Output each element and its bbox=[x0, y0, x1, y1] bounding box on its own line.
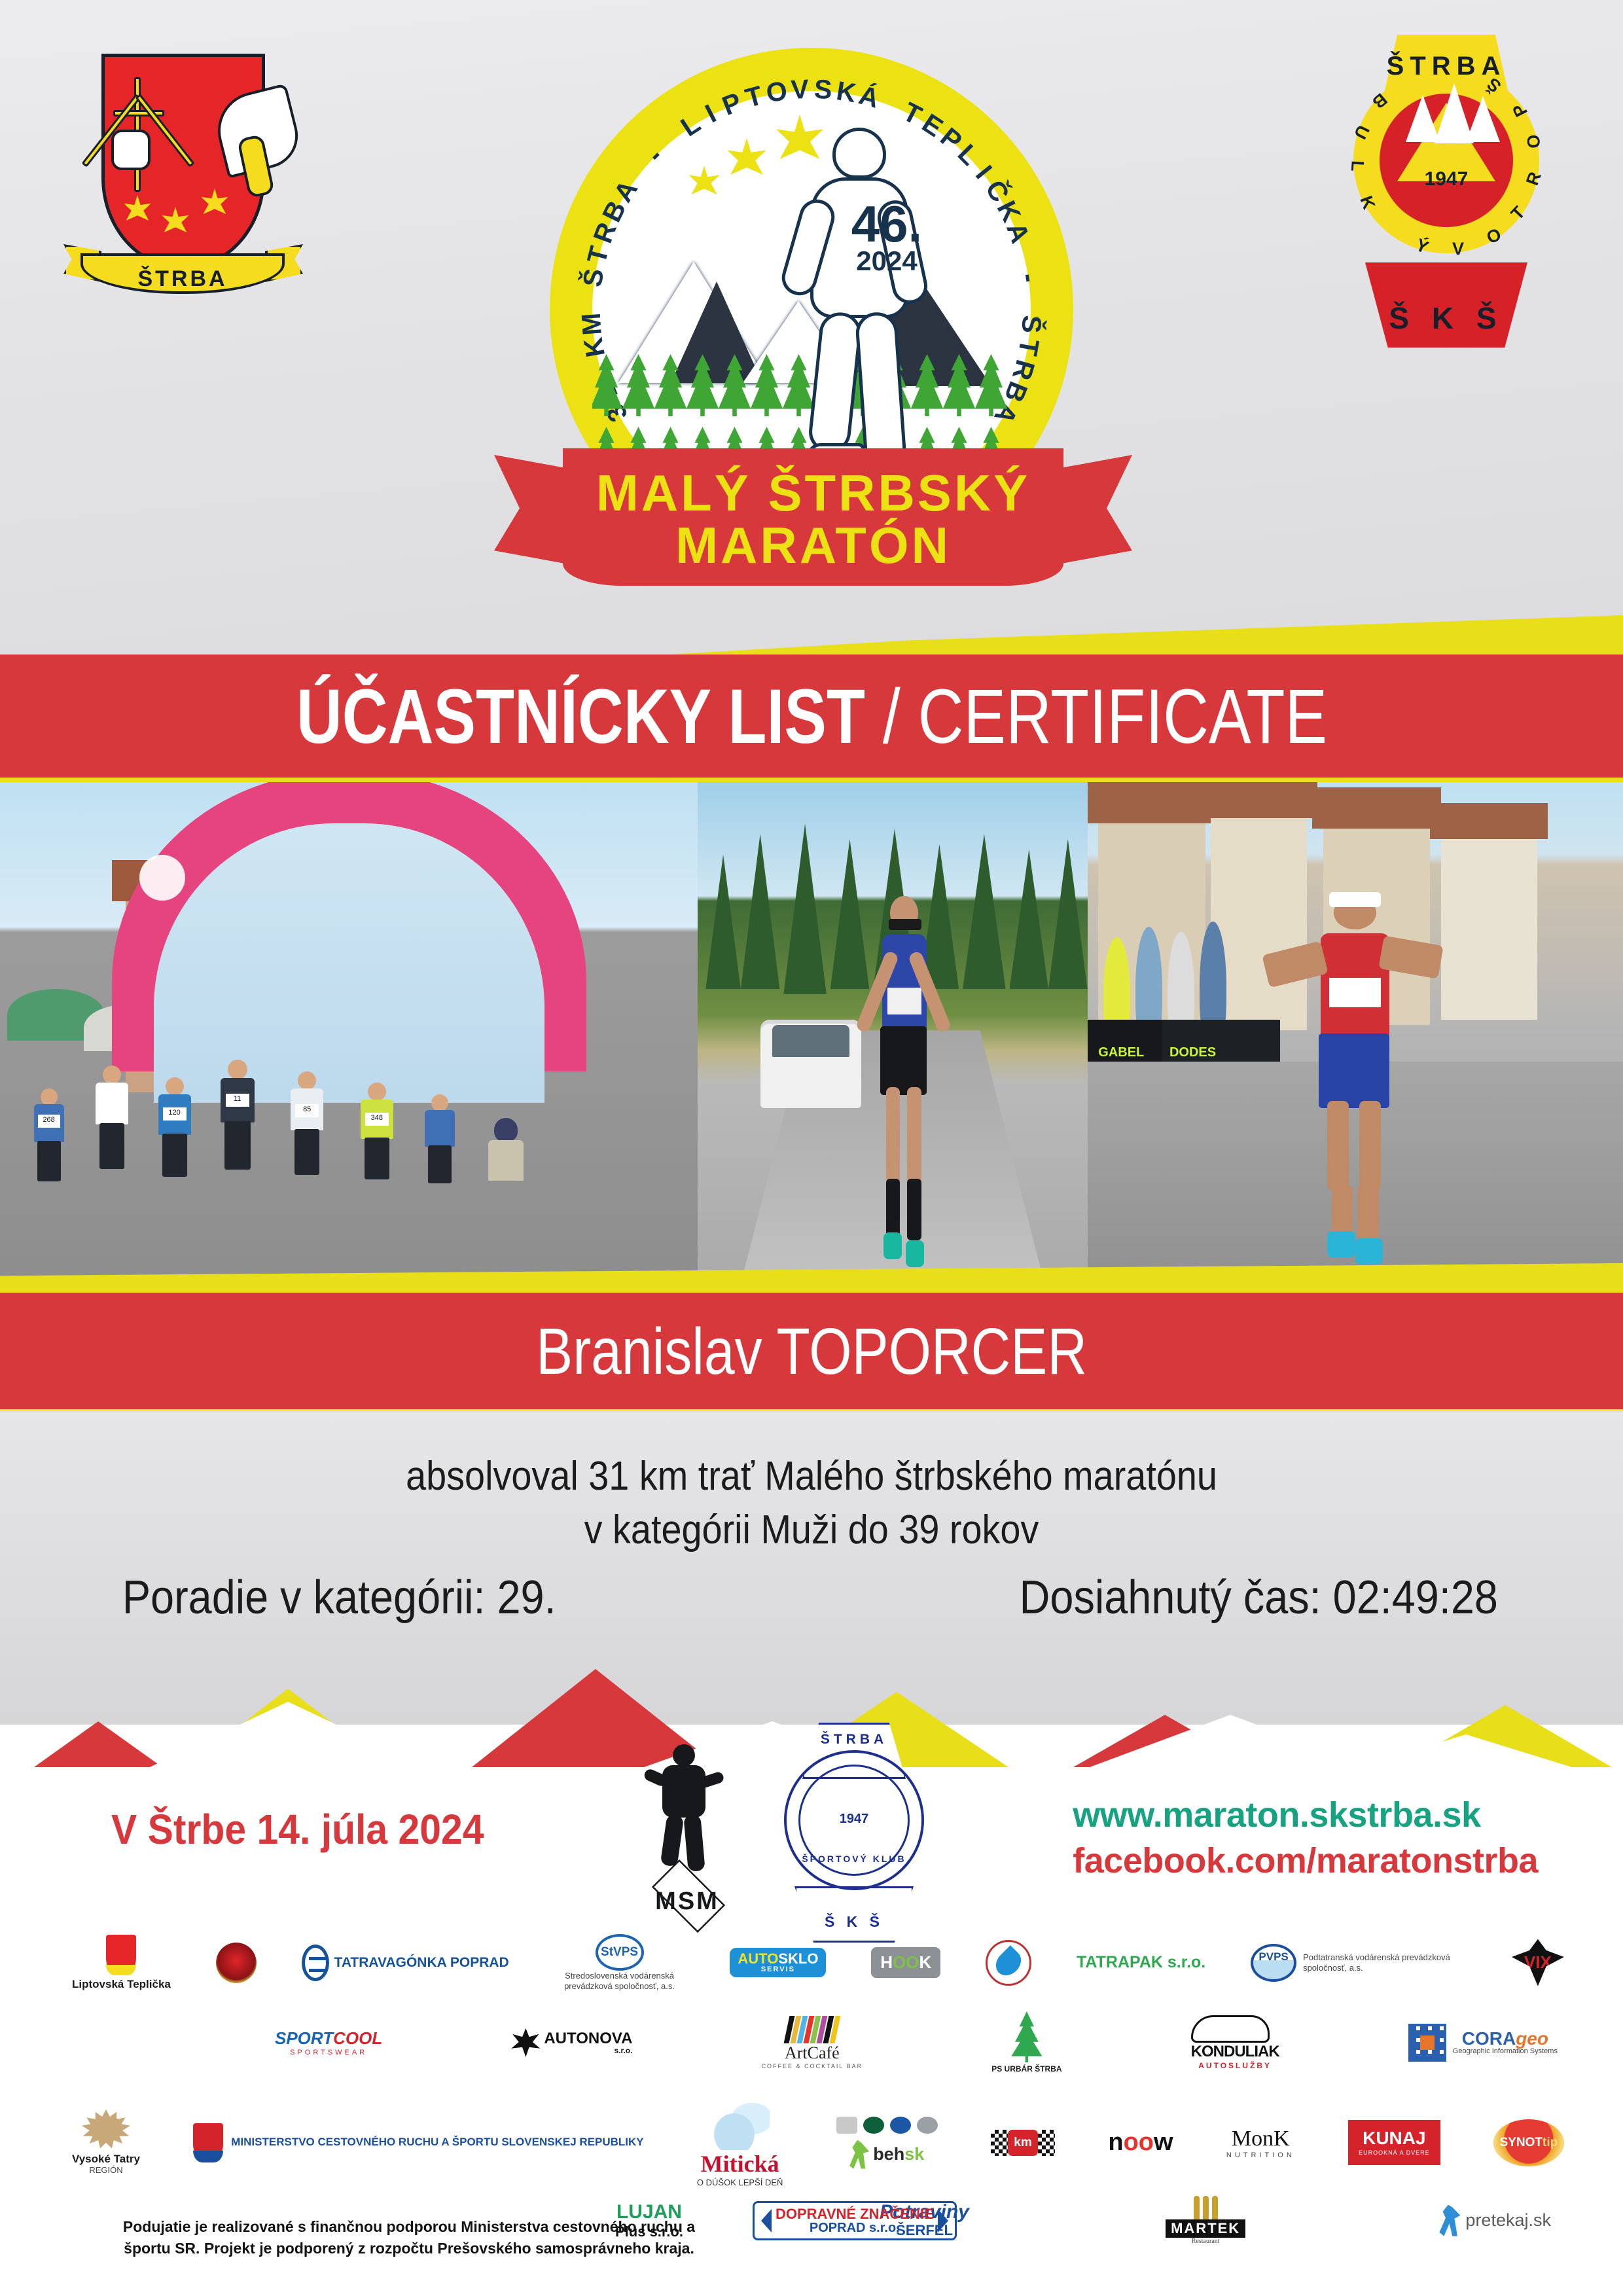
race-logo-bib: 46. 2024 bbox=[834, 200, 939, 274]
pine-tree-icon bbox=[749, 354, 785, 416]
sks-arc-letter: T bbox=[1507, 202, 1529, 224]
ps-urbar-tree-icon bbox=[1008, 2011, 1045, 2062]
stamp-arc-text: ŠPORTOVÝ KLUB bbox=[772, 1854, 936, 1864]
coa-ribbon: ŠTRBA bbox=[62, 239, 304, 310]
sponsor-grid: Liptovská Teplička TATRAVAGÓNKA POPRAD S… bbox=[0, 1934, 1623, 2209]
sks-arc-letter: P bbox=[1508, 100, 1532, 120]
sponsor-caption: Liptovská Teplička bbox=[72, 1978, 171, 1991]
miticka-name: Mitická bbox=[697, 2150, 783, 2178]
pine-tree-icon bbox=[973, 354, 1009, 416]
sportcool-wordmark: SPORTCOOL SPORTSWEAR bbox=[275, 2028, 382, 2056]
pretekaj-wordmark: pretekaj.sk bbox=[1465, 2210, 1551, 2231]
sponsor-miticka: Mitická O DÚŠOK LEPŠÍ DEŇ bbox=[697, 2098, 783, 2187]
stvps-oval-icon: StVPS bbox=[596, 1934, 644, 1971]
pine-tree-icon bbox=[620, 354, 656, 416]
event-date: V Štrbe 14. júla 2024 bbox=[111, 1805, 484, 1854]
stamp-bottom-text: Š K Š bbox=[772, 1913, 936, 1931]
race-edition-year: 2024 bbox=[834, 248, 939, 274]
title-bold: ÚČASTNÍCKY LIST bbox=[296, 673, 865, 760]
coat-of-arms-strba-icon: ŠTRBA bbox=[62, 39, 304, 353]
noow-wordmark: noow bbox=[1108, 2128, 1173, 2157]
sponsor-behsk: behsk bbox=[849, 2140, 924, 2169]
tatravagonka-mark-icon bbox=[302, 1945, 329, 1981]
support-note: Podujatie je realizované s finančnou pod… bbox=[98, 2216, 720, 2260]
km-flag-right-icon bbox=[1038, 2130, 1055, 2156]
dopravne-wordmark: DOPRAVNÉ ZNAČENIEPOPRAD s.r.o. bbox=[776, 2207, 934, 2234]
sks-bottom-text: Š K Š bbox=[1322, 300, 1571, 336]
monk-sub: NUTRITION bbox=[1226, 2151, 1295, 2159]
autonova-star-icon bbox=[511, 2028, 540, 2057]
sportcool-sub: SPORTSWEAR bbox=[275, 2049, 382, 2056]
sponsor-pd-strba bbox=[986, 1940, 1031, 1986]
star-medium bbox=[725, 138, 768, 181]
sks-arc-text: ŠPORTOVÝ KLUB bbox=[1353, 67, 1539, 253]
sponsor-ministerstvo: MINISTERSTVO CESTOVNÉHO RUCHU A ŠPORTU S… bbox=[193, 2123, 643, 2162]
autosklo-badge-icon: AUTOSKLO SERVIS bbox=[730, 1948, 826, 1977]
contact-links: www.maraton.skstrba.sk facebook.com/mara… bbox=[1073, 1795, 1538, 1881]
barrier-brand-gabel: GABEL bbox=[1098, 1045, 1144, 1060]
pd-strba-icon bbox=[986, 1940, 1031, 1986]
sponsor-hook: HOOK bbox=[871, 1947, 940, 1978]
arch-logo bbox=[139, 855, 185, 901]
stamp-year: 1947 bbox=[772, 1812, 936, 1827]
club-stamp-icon: ŠTRBA 1947 Š K Š ŠPORTOVÝ KLUB bbox=[772, 1728, 936, 1937]
finish-time: Dosiahnutý čas: 02:49:28 bbox=[1020, 1571, 1498, 1624]
participant-name: Branislav TOPORCER bbox=[536, 1314, 1087, 1390]
sponsor-kunaj: KUNAJ EUROOKNÁ A DVERE bbox=[1348, 2120, 1440, 2165]
sponsor-monk: MonK NUTRITION bbox=[1226, 2126, 1295, 2159]
sponsor-martek: MARTEK Restaurant bbox=[1166, 2196, 1245, 2245]
page-title: ÚČASTNÍCKY LIST / CERTIFICATE bbox=[296, 678, 1327, 755]
sponsor-dopravne-znacenie: DOPRAVNÉ ZNAČENIEPOPRAD s.r.o. bbox=[753, 2201, 957, 2240]
lead-female-runner bbox=[869, 896, 939, 1279]
category-rank: Poradie v kategórii: 29. bbox=[122, 1571, 556, 1624]
konduliak-sub: AUTOSLUŽBY bbox=[1191, 2061, 1279, 2070]
msm-word: MSM bbox=[622, 1888, 753, 1916]
footer: V Štrbe 14. júla 2024 MSM ŠTRBA 1947 Š K… bbox=[0, 1767, 1623, 2296]
sponsor-synottip: SYNOTtip bbox=[1493, 2119, 1564, 2166]
race-logo-banner: MALÝ ŠTRBSKÝ MARATÓN bbox=[494, 429, 1132, 619]
winning-runner bbox=[1302, 896, 1409, 1268]
konduliak-name: KONDULIAK bbox=[1191, 2043, 1279, 2061]
miticka-sub: O DÚŠOK LEPŠÍ DEŇ bbox=[697, 2178, 783, 2187]
km-wordmark: km bbox=[1008, 2130, 1038, 2156]
header-band: ŠTRBA 31 KM ŠTRBA - LIPTOVSKÁ TEPLIČKA -… bbox=[0, 0, 1623, 655]
sks-arc-letter: O bbox=[1524, 134, 1544, 149]
pvps-oval-icon: PVPS bbox=[1251, 1944, 1296, 1982]
arc-letter: T bbox=[742, 80, 766, 114]
sponsor-artcafe: ArtCafé COFFEE & COCKTAIL BAR bbox=[762, 2016, 863, 2070]
vysoke-tatry-sub: REGIÓN bbox=[89, 2165, 122, 2176]
artcafe-sub: COFFEE & COCKTAIL BAR bbox=[762, 2063, 863, 2070]
pvps-subtitle: Podtatranská vodárenská prevádzková spol… bbox=[1303, 1952, 1467, 1973]
star-small bbox=[687, 166, 721, 200]
konduliak-car-icon bbox=[1191, 2015, 1270, 2043]
title-light: CERTIFICATE bbox=[918, 673, 1327, 760]
vix-star-icon: VIX bbox=[1512, 1939, 1564, 1986]
race-logo: 31 KM ŠTRBA - LIPTOVSKÁ TEPLIČKA - ŠTRBA… bbox=[494, 36, 1132, 625]
sks-arc-letter: B bbox=[1368, 89, 1391, 113]
sponsor-autosklo-servis: AUTOSKLO SERVIS bbox=[730, 1948, 826, 1977]
kunaj-name: KUNAJ bbox=[1359, 2129, 1430, 2147]
sponsor-subtitle: Stredoslovenská vodárenská prevádzková s… bbox=[554, 1971, 685, 1991]
result-line-2: v kategórii Muži do 39 rokov bbox=[81, 1503, 1542, 1557]
km-flag-left-icon bbox=[991, 2130, 1008, 2156]
msm-logo-icon: MSM bbox=[622, 1738, 753, 1928]
martek-name: MARTEK bbox=[1166, 2219, 1245, 2238]
sponsor-konduliak: KONDULIAK AUTOSLUŽBY bbox=[1191, 2015, 1279, 2070]
ministry-text: MINISTERSTVO CESTOVNÉHO RUCHU A ŠPORTU S… bbox=[231, 2135, 643, 2149]
martek-sub: Restaurant bbox=[1166, 2238, 1245, 2245]
vysoke-tatry-sun-icon bbox=[82, 2109, 130, 2150]
sks-arc-letter: O bbox=[1484, 224, 1505, 249]
sponsor-stvps: StVPS Stredoslovenská vodárenská prevádz… bbox=[554, 1934, 685, 1991]
tatrapak-wordmark: TATRAPAK s.r.o. bbox=[1077, 1953, 1205, 1972]
ps-urbar-caption: PS URBÁR ŠTRBA bbox=[991, 2065, 1061, 2074]
sponsor-text: TATRAVAGÓNKA POPRAD bbox=[334, 1956, 509, 1970]
sponsor-pvps: PVPS Podtatranská vodárenská prevádzková… bbox=[1251, 1944, 1467, 1982]
pine-tree-icon bbox=[717, 354, 753, 416]
autosklo-sub: SERVIS bbox=[738, 1966, 818, 1973]
sks-arc-letter: Š bbox=[1483, 73, 1505, 96]
pine-tree-icon bbox=[941, 354, 977, 416]
hook-badge-icon: HOOK bbox=[871, 1947, 940, 1978]
runner-crowd: 268 120 11 8 bbox=[0, 978, 698, 1268]
artcafe-name: ArtCafé bbox=[762, 2043, 863, 2063]
arc-letter: K bbox=[834, 75, 859, 109]
finish-line-photo: GABEL DODES bbox=[1088, 782, 1623, 1299]
arc-letter: S bbox=[813, 74, 833, 105]
sponsor-vysoke-tatry: Vysoké Tatry REGIÓN bbox=[72, 2109, 140, 2176]
following-car bbox=[760, 1020, 862, 1107]
arc-letter: O bbox=[764, 75, 789, 109]
stamp-top-text: ŠTRBA bbox=[772, 1732, 936, 1748]
sponsor-pretekaj: pretekaj.sk bbox=[1439, 2205, 1551, 2236]
arc-letter: - bbox=[641, 141, 669, 169]
result-line-1: absolvoval 31 km trať Malého štrbského m… bbox=[81, 1450, 1542, 1503]
mass-start-photo: 268 120 11 8 bbox=[0, 782, 698, 1299]
vysoke-tatry-caption: Vysoké Tatry bbox=[72, 2153, 140, 2166]
autonova-wordmark: AUTONOVAs.r.o. bbox=[544, 2031, 632, 2054]
sponsor-km-motocentrum: km bbox=[991, 2130, 1055, 2156]
club-emblem-sks-icon: ŠTRBA ŠPORTOVÝ KLUB 1947 Š K Š bbox=[1322, 29, 1571, 350]
sponsor-ps-urbar-strba: PS URBÁR ŠTRBA bbox=[991, 2011, 1061, 2074]
pine-tree-icon bbox=[652, 354, 688, 416]
synottip-badge-icon: SYNOTtip bbox=[1493, 2119, 1564, 2166]
sponsor-autonova: AUTONOVAs.r.o. bbox=[511, 2028, 632, 2057]
banner-line-2: MARATÓN bbox=[563, 519, 1063, 571]
martek-cutlery-icon bbox=[1166, 2196, 1245, 2219]
runner-on-road-photo bbox=[698, 782, 1087, 1299]
result-stats: Poradie v kategórii: 29. Dosiahnutý čas:… bbox=[0, 1571, 1623, 1624]
certificate-title-bar: ÚČASTNÍCKY LIST / CERTIFICATE bbox=[0, 655, 1623, 779]
program-trencin-coin-icon bbox=[216, 1943, 257, 1983]
slovak-coat-icon bbox=[193, 2123, 223, 2162]
artcafe-bars-icon bbox=[762, 2016, 863, 2043]
corageo-wordmark: CORAgeoGeographic Information Systems bbox=[1453, 2030, 1558, 2055]
sponsor-program-trencin bbox=[216, 1943, 257, 1983]
arc-letter: Á bbox=[855, 80, 882, 115]
arrow-left-icon bbox=[761, 2209, 772, 2233]
banner-text: MALÝ ŠTRBSKÝ MARATÓN bbox=[563, 467, 1063, 572]
kunaj-sub: EUROOKNÁ A DVERE bbox=[1359, 2149, 1430, 2156]
sponsor-tatravagonka-poprad: TATRAVAGÓNKA POPRAD bbox=[302, 1945, 509, 1981]
liptovska-teplicka-shield-icon bbox=[106, 1935, 136, 1975]
sks-arc-letter: Ý bbox=[1412, 235, 1431, 259]
race-edition-number: 46. bbox=[834, 200, 939, 248]
result-description: absolvoval 31 km trať Malého štrbského m… bbox=[81, 1450, 1542, 1557]
coa-ribbon-text: ŠTRBA bbox=[80, 266, 285, 292]
website-link[interactable]: www.maraton.skstrba.sk bbox=[1073, 1795, 1538, 1835]
arrow-right-icon bbox=[938, 2209, 948, 2233]
sponsor-car-brands: behsk bbox=[836, 2117, 938, 2169]
sks-year: 1947 bbox=[1322, 168, 1571, 190]
sponsor-noow: noow bbox=[1108, 2128, 1173, 2157]
facebook-link[interactable]: facebook.com/maratonstrba bbox=[1073, 1840, 1538, 1881]
photo-strip: 268 120 11 8 bbox=[0, 782, 1623, 1299]
title-separator: / bbox=[865, 673, 918, 760]
behsk-runner-icon bbox=[849, 2140, 869, 2169]
sponsor-vix: VIX bbox=[1512, 1939, 1564, 1986]
participant-name-bar: Branislav TOPORCER bbox=[0, 1293, 1623, 1410]
behsk-wordmark: behsk bbox=[873, 2144, 924, 2164]
pretekaj-runner-icon bbox=[1439, 2205, 1460, 2236]
car-brand-icons bbox=[836, 2117, 938, 2134]
sks-arc-letter: U bbox=[1349, 122, 1373, 142]
banner-line-1: MALÝ ŠTRBSKÝ bbox=[563, 467, 1063, 519]
coa-fist bbox=[111, 130, 151, 170]
pine-tree-icon bbox=[592, 354, 624, 416]
sponsor-tatrapak: TATRAPAK s.r.o. bbox=[1077, 1953, 1205, 1972]
water-splash-icon bbox=[711, 2098, 770, 2150]
sponsor-corageo: CORAgeoGeographic Information Systems bbox=[1408, 2024, 1558, 2062]
pine-tree-icon bbox=[685, 354, 721, 416]
sponsor-liptovska-teplicka: Liptovská Teplička bbox=[72, 1935, 171, 1991]
sks-arc-letter: V bbox=[1452, 239, 1464, 259]
corageo-grid-icon bbox=[1408, 2024, 1446, 2062]
monk-name: MonK bbox=[1226, 2126, 1295, 2151]
sks-arc-letter: K bbox=[1355, 193, 1379, 212]
sponsor-sportcool: SPORTCOOL SPORTSWEAR bbox=[275, 2028, 382, 2056]
barrier-brand-dodes: DODES bbox=[1169, 1045, 1216, 1060]
arc-letter: V bbox=[790, 74, 810, 105]
